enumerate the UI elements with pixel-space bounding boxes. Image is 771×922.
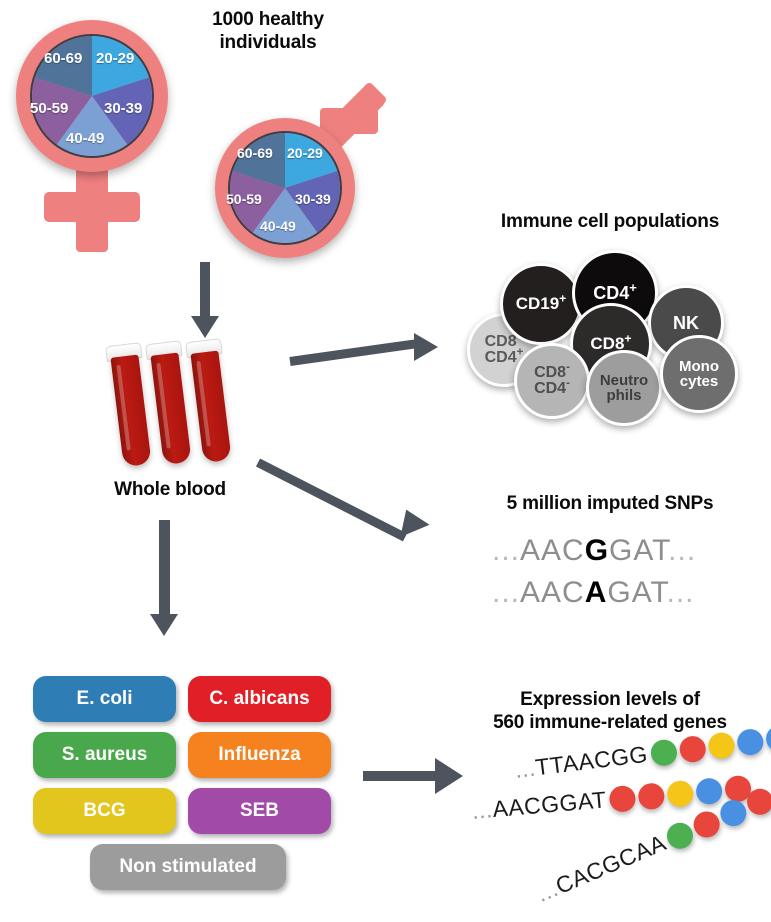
snp-trail: ... xyxy=(667,576,695,609)
gene-bead xyxy=(637,782,665,810)
whole-blood-label: Whole blood xyxy=(70,478,270,501)
cohort-title-line1: 1000 healthy xyxy=(168,8,368,31)
stimulus-non-stimulated[interactable]: Non stimulated xyxy=(90,844,286,890)
stimulus-label: Non stimulated xyxy=(119,856,256,878)
gene-strand-bases: AACGGAT xyxy=(491,786,607,822)
snp-sequence-row: ...AACAGAT... xyxy=(492,576,695,610)
female-symbol-crossbar xyxy=(44,192,140,222)
male-pie-label-30-39: 30-39 xyxy=(295,191,331,207)
stimulus-c-albicans[interactable]: C. albicans xyxy=(188,676,331,722)
female-pie-label-30-39: 30-39 xyxy=(104,100,142,117)
gene-strand-bases: CACGCAA xyxy=(552,829,670,899)
gene-bead xyxy=(678,734,707,763)
gene-bead xyxy=(695,777,723,805)
stimulus-s-aureus[interactable]: S. aureus xyxy=(33,732,176,778)
female-symbol: 20-29 30-39 40-49 50-59 60-69 xyxy=(8,12,188,252)
gene-strand-seq: ...TTAACGG xyxy=(513,741,649,784)
snp-sequence-row: ...AACGGAT... xyxy=(492,534,696,568)
male-symbol: 20-29 30-39 40-49 50-59 60-69 xyxy=(205,90,405,260)
stimulus-label: C. albicans xyxy=(209,688,309,710)
female-pie-label-20-29: 20-29 xyxy=(96,50,134,67)
stimulus-label: SEB xyxy=(240,800,279,822)
arrow-blood-to-cells xyxy=(290,330,455,380)
gene-strand-seq: ...AACGGAT xyxy=(471,786,608,825)
gene-bead xyxy=(689,807,723,841)
gene-bead xyxy=(666,779,694,807)
arrow-stimuli-to-genes xyxy=(363,758,473,794)
immune-cell-label: CD8+CD4+ xyxy=(485,334,524,367)
stimulus-seb[interactable]: SEB xyxy=(188,788,331,834)
gene-bead xyxy=(707,731,736,760)
immune-cell-cluster: CD8+CD4+ CD19+ CD4+ NK CD8+ CD8-CD4- Neu… xyxy=(452,245,768,410)
gene-strand-bases: TTAACGG xyxy=(534,741,649,781)
snp-suffix: GAT xyxy=(609,534,668,567)
blood-tubes-group xyxy=(105,340,235,470)
snps-title: 5 million imputed SNPs xyxy=(452,492,768,515)
gene-strand-lead: ... xyxy=(471,796,494,824)
female-pie-label-40-49: 40-49 xyxy=(66,130,104,147)
arrow-blood-to-snps xyxy=(258,450,458,560)
snp-suffix: GAT xyxy=(607,576,666,609)
gene-bead xyxy=(764,724,771,753)
snp-trail: ... xyxy=(668,534,696,567)
immune-cell-label: CD4+ xyxy=(593,284,637,302)
gene-bead xyxy=(608,784,636,812)
gene-bead xyxy=(735,727,764,756)
snp-variant: A xyxy=(585,576,608,609)
immune-cell-neutrophils: Neutrophils xyxy=(586,350,662,426)
immune-cell-label: Neutrophils xyxy=(600,373,648,404)
gene-bead xyxy=(649,738,678,767)
snp-variant: G xyxy=(585,534,609,567)
male-symbol-arrow-head2 xyxy=(320,108,378,134)
immune-cell-label: CD8-CD4- xyxy=(534,365,570,398)
stimulus-label: E. coli xyxy=(77,688,133,710)
cohort-title: 1000 healthy individuals xyxy=(168,8,368,54)
gene-strand-seq: ...CACGCAA xyxy=(533,829,671,908)
arrow-blood-to-stimuli xyxy=(145,520,195,650)
immune-cell-cd19p: CD19+ xyxy=(500,263,582,345)
male-pie-label-50-59: 50-59 xyxy=(226,191,262,207)
female-pie-label-60-69: 60-69 xyxy=(44,50,82,67)
male-pie-label-20-29: 20-29 xyxy=(287,145,323,161)
stimulus-label: BCG xyxy=(83,800,125,822)
male-pie-label-60-69: 60-69 xyxy=(237,145,273,161)
immune-cell-label: Monocytes xyxy=(679,359,719,390)
male-pie-label-40-49: 40-49 xyxy=(260,218,296,234)
snp-lead: ... xyxy=(492,534,520,567)
cohort-title-line2: individuals xyxy=(168,31,368,54)
stimulus-label: Influenza xyxy=(218,744,300,766)
immune-title: Immune cell populations xyxy=(452,210,768,233)
stimulus-label: S. aureus xyxy=(62,744,148,766)
immune-cell-cd8n-cd4n: CD8-CD4- xyxy=(514,343,590,419)
female-pie-label-50-59: 50-59 xyxy=(30,100,68,117)
snp-lead: ... xyxy=(492,576,520,609)
immune-cell-label: NK xyxy=(673,314,699,332)
snp-prefix: AAC xyxy=(520,534,585,567)
genes-title-line1: Expression levels of xyxy=(452,688,768,711)
stimulus-bcg[interactable]: BCG xyxy=(33,788,176,834)
stimulus-influenza[interactable]: Influenza xyxy=(188,732,331,778)
arrow-cohort-to-blood xyxy=(188,262,228,342)
immune-cell-label: CD19+ xyxy=(516,295,567,312)
genes-title: Expression levels of 560 immune-related … xyxy=(452,688,768,734)
snp-prefix: AAC xyxy=(520,576,585,609)
immune-cell-monocytes: Monocytes xyxy=(660,335,738,413)
stimulus-e-coli[interactable]: E. coli xyxy=(33,676,176,722)
